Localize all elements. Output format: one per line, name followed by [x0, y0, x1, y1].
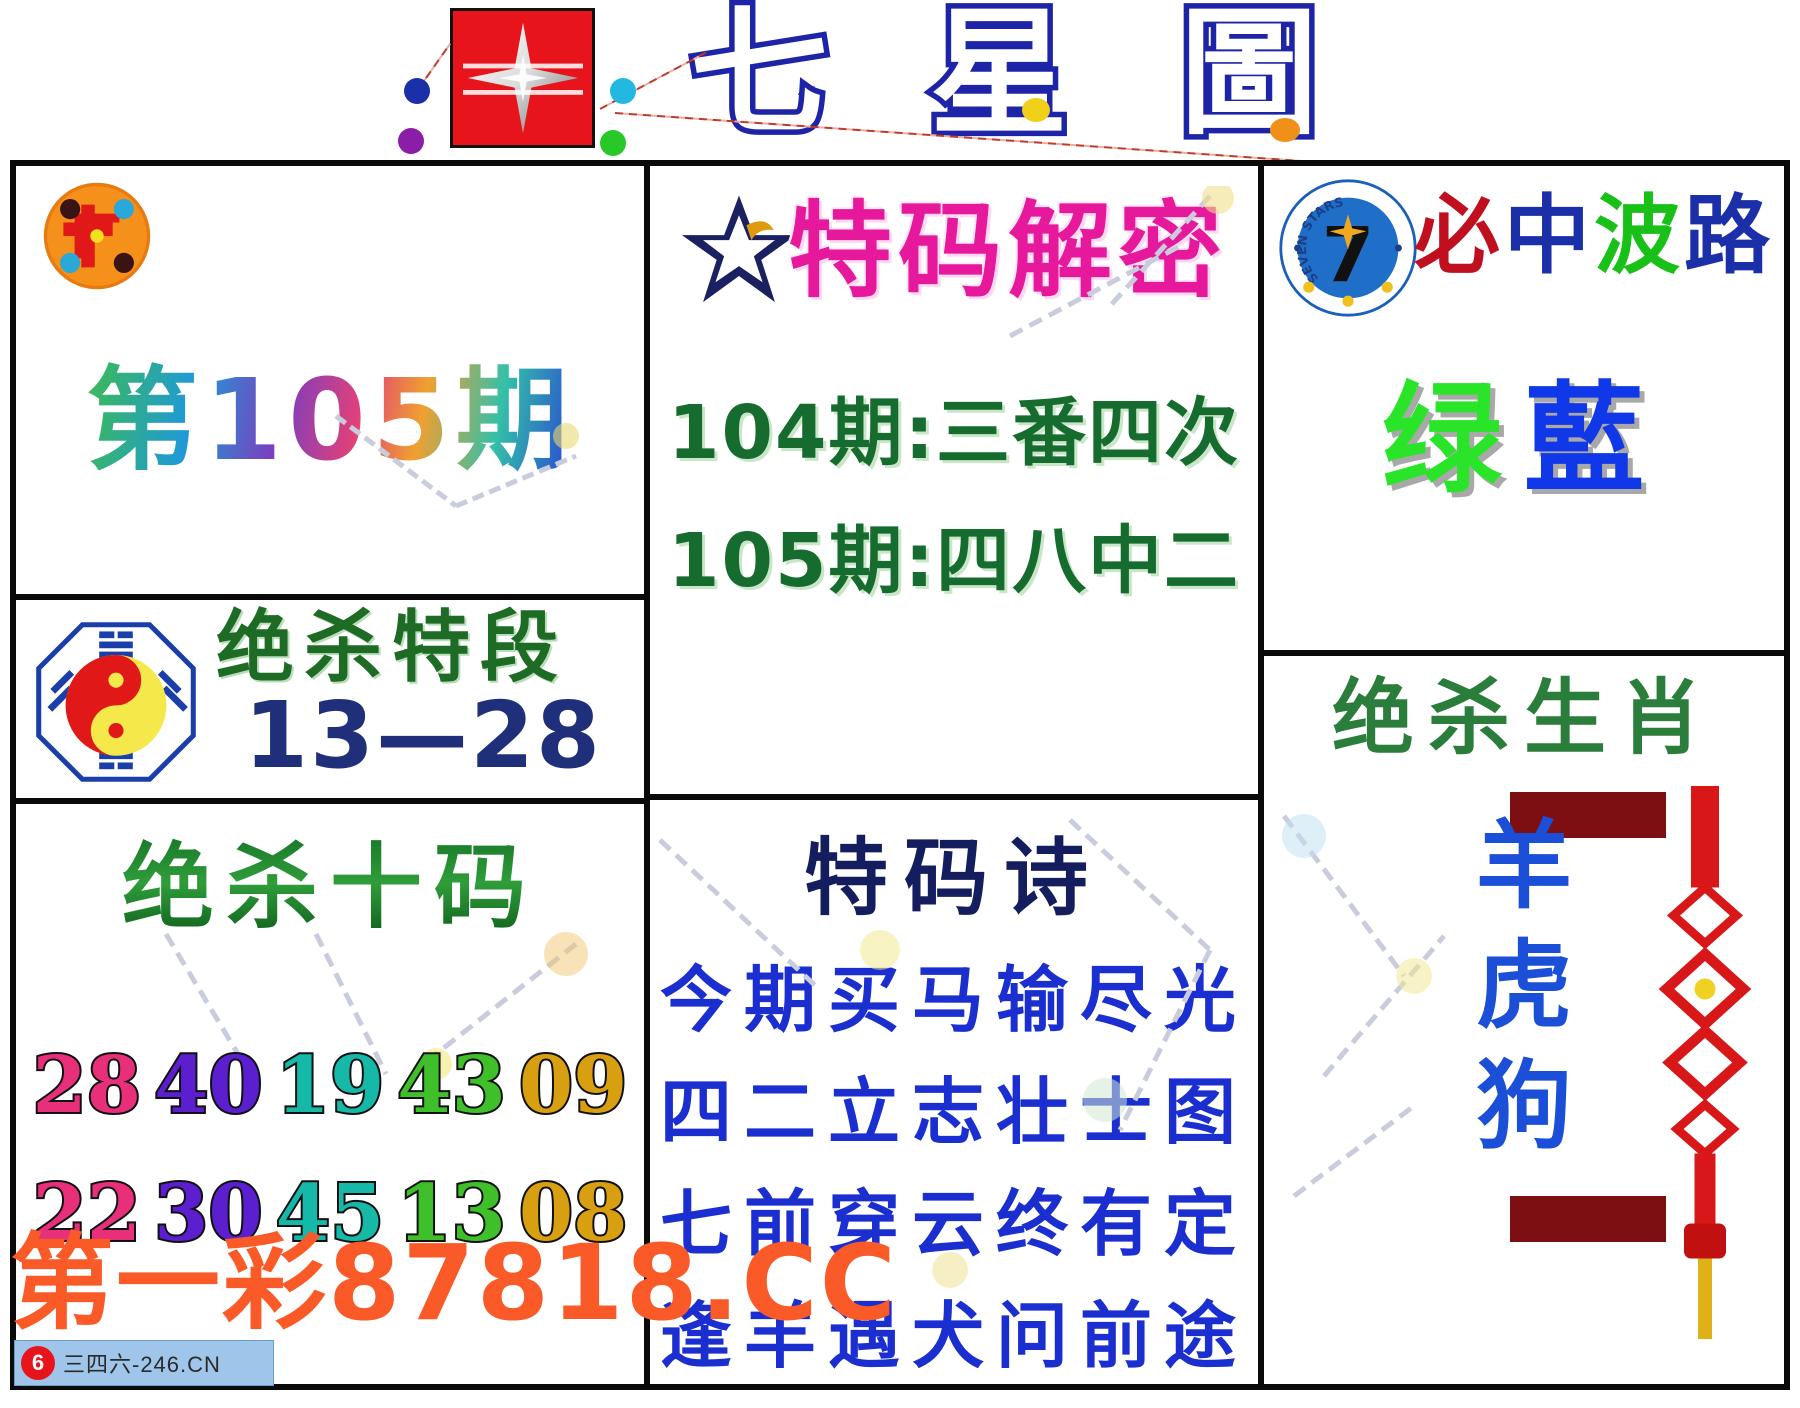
- decode-title: 特码解密: [788, 194, 1228, 308]
- decor-dot-cyan: [610, 78, 636, 104]
- ten-code-cell: 13: [397, 1172, 506, 1256]
- ten-codes-title: 绝杀十码: [16, 838, 644, 938]
- decor-dot-green: [600, 130, 626, 156]
- panel-bolu: SEVEN STARS 7 必中波路 绿藍: [1258, 160, 1790, 656]
- chinese-knot-icon: [1650, 786, 1760, 1346]
- header-char-2: 星: [930, 4, 1068, 144]
- bolu-color-blue: 藍: [1524, 371, 1666, 510]
- red-circle-icon: 6: [21, 1346, 55, 1380]
- decor-dot-yellow: [1022, 98, 1050, 122]
- ten-code-cell: 30: [154, 1172, 263, 1256]
- navy-star-icon: [674, 188, 804, 312]
- panel-zodiac: 绝杀生肖 羊 虎 狗: [1258, 650, 1790, 1390]
- panel-poem: 特码诗 今期买马输尽光 四二立志壮士图 七前穿云终有定 逢羊遇犬问前途: [644, 794, 1264, 1390]
- ten-code-cell: 28: [33, 1044, 142, 1128]
- ten-code-cell: 45: [276, 1172, 385, 1256]
- poem-line-1: 今期买马输尽光: [650, 960, 1258, 1040]
- bolu-char-1: 必: [1414, 188, 1504, 284]
- bolu-color-green: 绿: [1382, 371, 1524, 510]
- seven-stars-badge-icon: SEVEN STARS 7: [1278, 178, 1418, 318]
- ten-code-cell: 40: [154, 1044, 263, 1128]
- bolu-colors: 绿藍: [1264, 376, 1784, 506]
- ten-codes-row-1: 28 40 19 43 09: [16, 1044, 644, 1128]
- red-star-logo: [450, 8, 595, 148]
- decode-line-2: 105期:四八中二: [668, 518, 1240, 604]
- panel-duan: 绝杀特段 13—28: [10, 594, 650, 804]
- ten-code-cell: 08: [519, 1172, 628, 1256]
- bolu-char-2: 中: [1504, 188, 1594, 284]
- panel-decode: 特码解密 104期:三番四次 105期:四八中二: [644, 160, 1264, 800]
- period-label: 第105期: [16, 361, 644, 481]
- badge-text: 三四六-246.CN: [63, 1347, 221, 1379]
- panel-ten-codes: 绝杀十码 28 40 19 43 09 22 30 45 13 08: [10, 798, 650, 1390]
- swastika-medallion-icon: [38, 180, 156, 292]
- bagua-yinyang-icon: [32, 618, 200, 786]
- poem-line-3: 七前穿云终有定: [650, 1184, 1258, 1264]
- poem-line-2: 四二立志壮士图: [650, 1072, 1258, 1152]
- page-header: 七 星 圖: [0, 0, 1800, 160]
- poem-title: 特码诗: [650, 832, 1258, 924]
- site-badge[interactable]: 6 三四六-246.CN: [14, 1340, 274, 1386]
- zodiac-title: 绝杀生肖: [1264, 674, 1784, 764]
- decor-dot-purple: [398, 128, 424, 154]
- ten-code-cell: 09: [519, 1044, 628, 1128]
- poem-line-4: 逢羊遇犬问前途: [650, 1296, 1258, 1376]
- bolu-title: 必中波路: [1414, 188, 1774, 284]
- panel-period: 第105期: [10, 160, 650, 600]
- ten-code-cell: 19: [276, 1044, 385, 1128]
- bolu-char-3: 波: [1594, 188, 1684, 284]
- ten-code-cell: 22: [33, 1172, 142, 1256]
- decode-line-1: 104期:三番四次: [668, 390, 1240, 476]
- bolu-char-4: 路: [1684, 188, 1774, 284]
- duan-title: 绝杀特段: [216, 606, 568, 690]
- zodiac-bar-bottom: [1510, 1196, 1666, 1242]
- poster-grid: 第105期 绝杀特段 13—28: [10, 160, 1790, 1390]
- ten-code-cell: 43: [397, 1044, 506, 1128]
- star-burst-icon: [463, 18, 583, 138]
- ten-codes-row-2: 22 30 45 13 08: [16, 1172, 644, 1256]
- duan-range: 13—28: [244, 686, 602, 786]
- decor-dot-blue: [404, 78, 430, 104]
- decor-dot-orange: [1270, 118, 1300, 142]
